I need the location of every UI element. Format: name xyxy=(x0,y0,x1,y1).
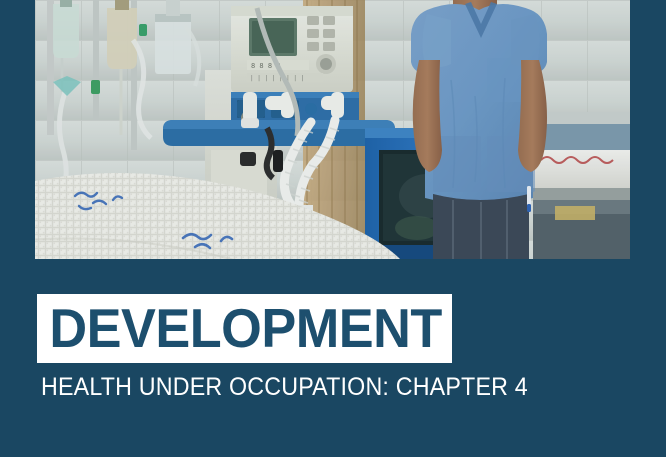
page-subtitle: HEALTH UNDER OCCUPATION: CHAPTER 4 xyxy=(41,374,528,402)
slide-root: 8 8 8 8 | | | | | | | | xyxy=(0,0,666,457)
hero-illustration: 8 8 8 8 | | | | | | | | xyxy=(35,0,630,259)
hero-image: 8 8 8 8 | | | | | | | | xyxy=(35,0,630,259)
title-banner: DEVELOPMENT xyxy=(37,294,452,363)
page-title: DEVELOPMENT xyxy=(37,301,442,356)
